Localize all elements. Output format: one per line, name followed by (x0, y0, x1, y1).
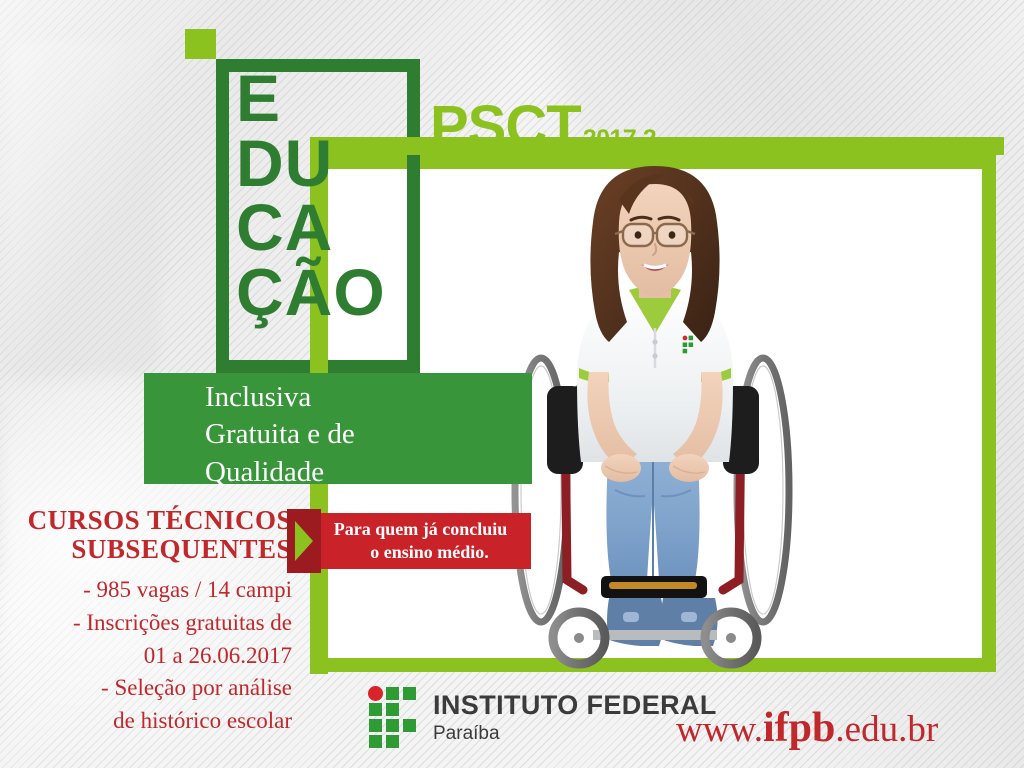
offer-heading: CURSOS TÉCNICOS SUBSEQUENTES (18, 506, 292, 564)
offer-detail-selecao: - Seleção por análise (18, 672, 292, 705)
chevron-right-icon (287, 509, 321, 573)
offer-detail-historico: de histórico escolar (18, 705, 292, 738)
offer-heading-line-1: CURSOS TÉCNICOS (18, 506, 292, 535)
educacao-wordmark: E DU CA ÇÃO (236, 66, 386, 325)
offer-detail-vagas: - 985 vagas / 14 campi (18, 574, 292, 607)
tagline-text: Inclusiva Gratuita e de Qualidade (205, 379, 535, 491)
tagline-line-1: Inclusiva (205, 379, 535, 416)
website-url[interactable]: www.ifpb.edu.br (676, 704, 938, 752)
audience-line-2: o ensino médio. (318, 541, 523, 564)
educacao-line-4: ÇÃO (236, 260, 386, 325)
ifpb-logo-mark-icon (368, 686, 420, 748)
offer-info-block: CURSOS TÉCNICOS SUBSEQUENTES - 985 vagas… (18, 506, 292, 738)
educacao-line-2: DU (236, 131, 386, 196)
tagline-line-3: Qualidade (205, 454, 535, 491)
decor-light-green-horizontal-bar (310, 137, 1004, 155)
website-prefix: www. (676, 709, 763, 750)
audience-line-1: Para quem já concluiu (318, 518, 523, 541)
tagline-line-2: Gratuita e de (205, 416, 535, 453)
offer-detail-periodo: 01 a 26.06.2017 (18, 640, 292, 673)
psct-heading: PSCT 2017.2 (430, 98, 656, 156)
ifpb-logo: INSTITUTO FEDERAL Paraíba (368, 686, 717, 748)
educacao-line-3: CA (236, 195, 386, 260)
website-brand: ifpb (763, 705, 835, 751)
psct-label: PSCT (430, 98, 581, 156)
offer-detail-inscricoes: - Inscrições gratuitas de (18, 607, 292, 640)
educacao-line-1: E (236, 66, 386, 131)
poster-canvas: E DU CA ÇÃO PSCT 2017.2 Inclusiva Gratui… (0, 0, 1024, 768)
psct-year-label: 2017.2 (583, 127, 656, 152)
ifpb-logo-subtitle: Paraíba (433, 724, 717, 743)
website-suffix: .edu.br (835, 709, 938, 750)
ifpb-logo-title: INSTITUTO FEDERAL (433, 692, 717, 719)
student-photo (505, 160, 805, 672)
offer-heading-line-2: SUBSEQUENTES (18, 535, 292, 564)
ifpb-logo-text: INSTITUTO FEDERAL Paraíba (433, 692, 717, 743)
audience-text: Para quem já concluiu o ensino médio. (318, 518, 523, 564)
offer-details: - 985 vagas / 14 campi - Inscrições grat… (18, 574, 292, 737)
decor-square-top-left (185, 29, 216, 59)
